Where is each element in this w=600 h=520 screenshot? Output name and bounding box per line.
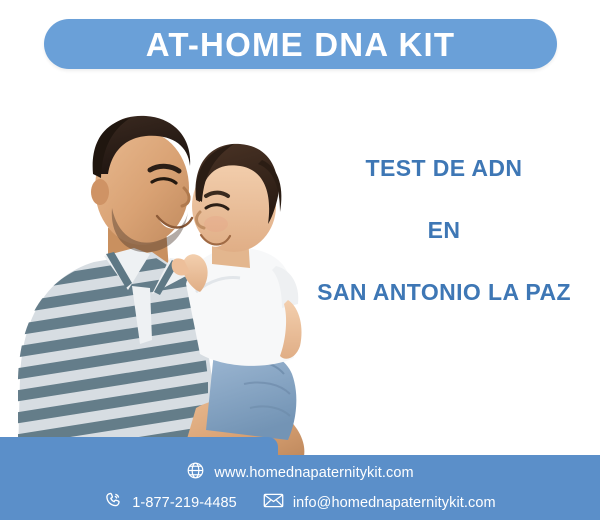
footer-row-website: www.homednapaternitykit.com — [186, 461, 413, 485]
footer-website-label: www.homednapaternitykit.com — [214, 465, 413, 481]
footer-row-contact: 1-877-219-4485 info@homednapaternitykit.… — [104, 491, 496, 515]
globe-icon — [186, 461, 205, 485]
phone-icon — [104, 491, 123, 515]
footer-email[interactable]: info@homednapaternitykit.com — [263, 491, 496, 515]
footer-bar: www.homednapaternitykit.com 1-877-219-44… — [0, 437, 600, 520]
headline-block: TEST DE ADN EN SAN ANTONIO LA PAZ — [288, 155, 600, 305]
headline-line-2: EN — [288, 217, 600, 243]
header-title: AT-HOME DNA KIT — [146, 28, 455, 61]
header-banner: AT-HOME DNA KIT — [44, 19, 557, 69]
headline-line-1: TEST DE ADN — [288, 155, 600, 181]
footer-content: www.homednapaternitykit.com 1-877-219-44… — [0, 455, 600, 520]
envelope-icon — [263, 491, 284, 515]
footer-phone-label: 1-877-219-4485 — [132, 495, 237, 511]
footer-email-label: info@homednapaternitykit.com — [293, 495, 496, 511]
promo-graphic: AT-HOME DNA KIT — [0, 0, 600, 520]
footer-phone[interactable]: 1-877-219-4485 — [104, 491, 237, 515]
headline-line-3: SAN ANTONIO LA PAZ — [288, 279, 600, 305]
footer-website[interactable]: www.homednapaternitykit.com — [186, 461, 413, 485]
